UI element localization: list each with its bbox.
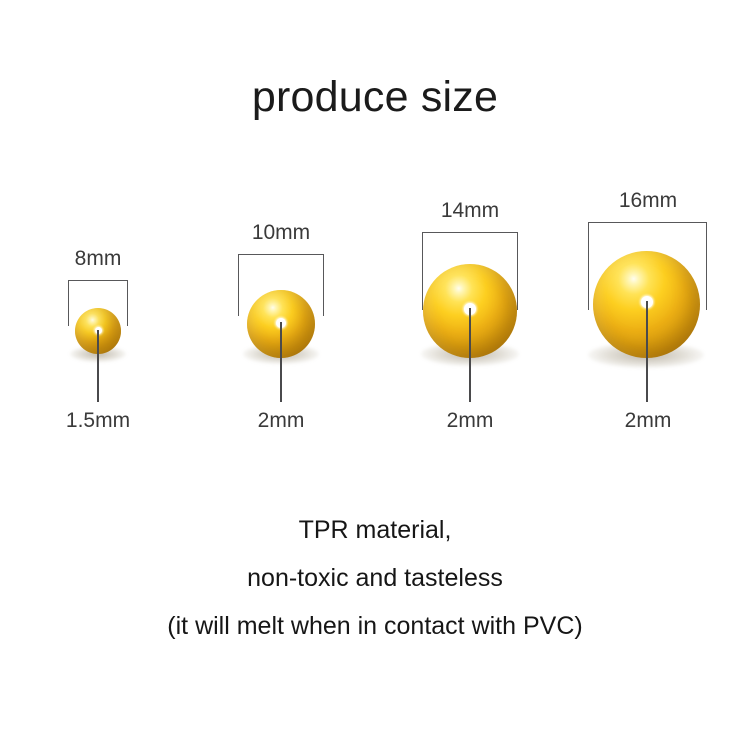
- hole-label-8mm: 1.5mm: [48, 410, 148, 431]
- footer-line-safety: non-toxic and tasteless: [0, 566, 750, 591]
- leader-line-16mm: [646, 301, 648, 402]
- hole-label-14mm: 2mm: [408, 410, 532, 431]
- ball-group-14mm: 14mm 2mm: [408, 200, 532, 438]
- leader-line-14mm: [469, 308, 471, 402]
- leader-line-10mm: [280, 322, 282, 402]
- ball-group-10mm: 10mm 2mm: [222, 222, 340, 438]
- ball-group-16mm: 16mm 2mm: [582, 190, 714, 438]
- hole-label-10mm: 2mm: [222, 410, 340, 431]
- size-label-16mm: 16mm: [582, 190, 714, 211]
- page-title: produce size: [0, 76, 750, 119]
- ball-group-8mm: 8mm 1.5mm: [48, 248, 148, 438]
- size-label-10mm: 10mm: [222, 222, 340, 243]
- hole-label-16mm: 2mm: [582, 410, 714, 431]
- product-size-diagram: produce size 8mm 1.5mm 10mm 2mm 14mm 2mm: [0, 0, 750, 750]
- size-label-14mm: 14mm: [408, 200, 532, 221]
- leader-line-8mm: [97, 330, 99, 402]
- size-label-8mm: 8mm: [48, 248, 148, 269]
- footer-line-material: TPR material,: [0, 518, 750, 543]
- footer-line-warning: (it will melt when in contact with PVC): [0, 614, 750, 639]
